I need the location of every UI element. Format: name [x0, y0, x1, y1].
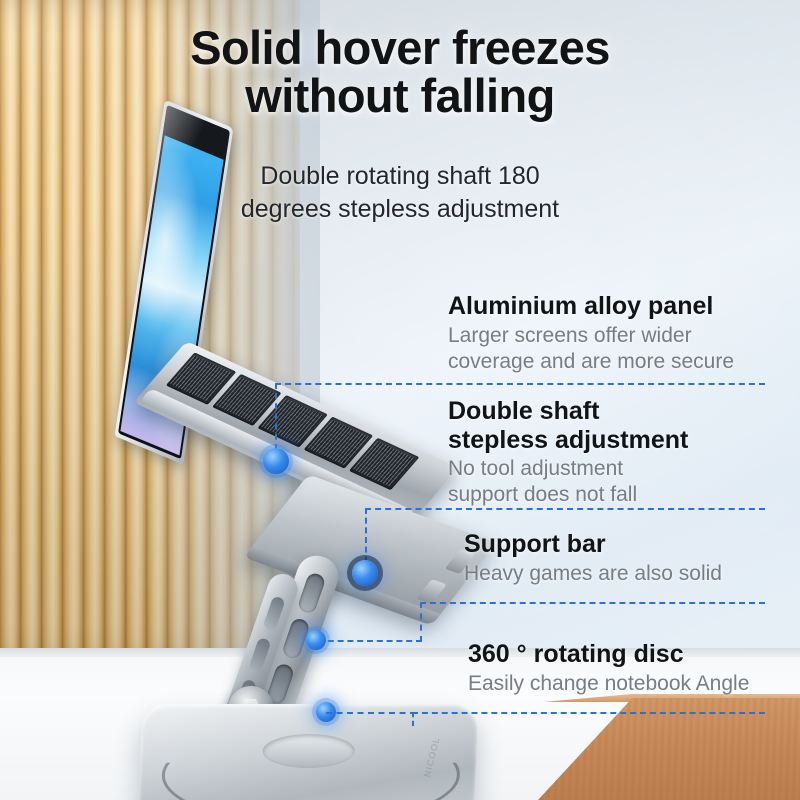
callout-title-line-1: Aluminium alloy panel	[448, 292, 713, 320]
callout-desc-line-2: support does not fall	[448, 482, 788, 508]
callout-double-shaft: Double shaft stepless adjustment No tool…	[448, 397, 788, 508]
marker-dot-support	[306, 630, 326, 650]
panel-tab	[416, 579, 447, 604]
page-title: Solid hover freezes without falling	[0, 24, 800, 120]
callout-rotating-disc: 360 ° rotating disc Easily change notebo…	[468, 640, 798, 697]
marker-dot-shaft	[352, 560, 378, 586]
subtitle-line-2: degrees stepless adjustment	[140, 193, 660, 226]
callout-desc-line-1: Easily change notebook Angle	[468, 672, 749, 695]
headline-line-2: without falling	[0, 72, 800, 120]
subtitle-line-1: Double rotating shaft 180	[260, 162, 539, 190]
callout-desc-line-1: Larger screens offer wider	[448, 324, 692, 347]
callout-description: Heavy games are also solid	[464, 561, 794, 587]
headline-line-1: Solid hover freezes	[190, 21, 610, 74]
callout-support-bar: Support bar Heavy games are also solid	[464, 530, 794, 587]
callout-title-line-1: Double shaft	[448, 397, 599, 425]
arm-cutout	[248, 637, 271, 673]
callout-title: Support bar	[464, 530, 794, 559]
marker-dot-panel	[263, 448, 289, 474]
product-feature-image: NICOOL Solid hover freezes without falli…	[0, 0, 800, 800]
callout-title: Aluminium alloy panel	[448, 292, 788, 321]
callout-aluminium-alloy-panel: Aluminium alloy panel Larger screens off…	[448, 292, 788, 375]
callout-desc-line-1: No tool adjustment	[448, 457, 623, 480]
callout-title-line-1: Support bar	[464, 530, 606, 558]
callout-description: No tool adjustment support does not fall	[448, 456, 788, 508]
rotating-disc-base: NICOOL	[138, 704, 479, 800]
callout-desc-line-2: coverage and are more secure	[448, 349, 788, 375]
callout-title-line-1: 360 ° rotating disc	[468, 640, 684, 668]
callout-title: Double shaft stepless adjustment	[448, 397, 788, 454]
callout-title: 360 ° rotating disc	[468, 640, 798, 669]
arm-cutout	[262, 595, 285, 631]
callout-title-line-2: stepless adjustment	[448, 426, 788, 455]
callout-description: Larger screens offer wider coverage and …	[448, 323, 788, 375]
marker-dot-disc	[316, 702, 336, 722]
arm-cutout	[297, 571, 327, 615]
page-subtitle: Double rotating shaft 180 degrees steple…	[140, 160, 660, 225]
callout-description: Easily change notebook Angle	[468, 671, 798, 697]
callout-desc-line-1: Heavy games are also solid	[464, 562, 722, 585]
